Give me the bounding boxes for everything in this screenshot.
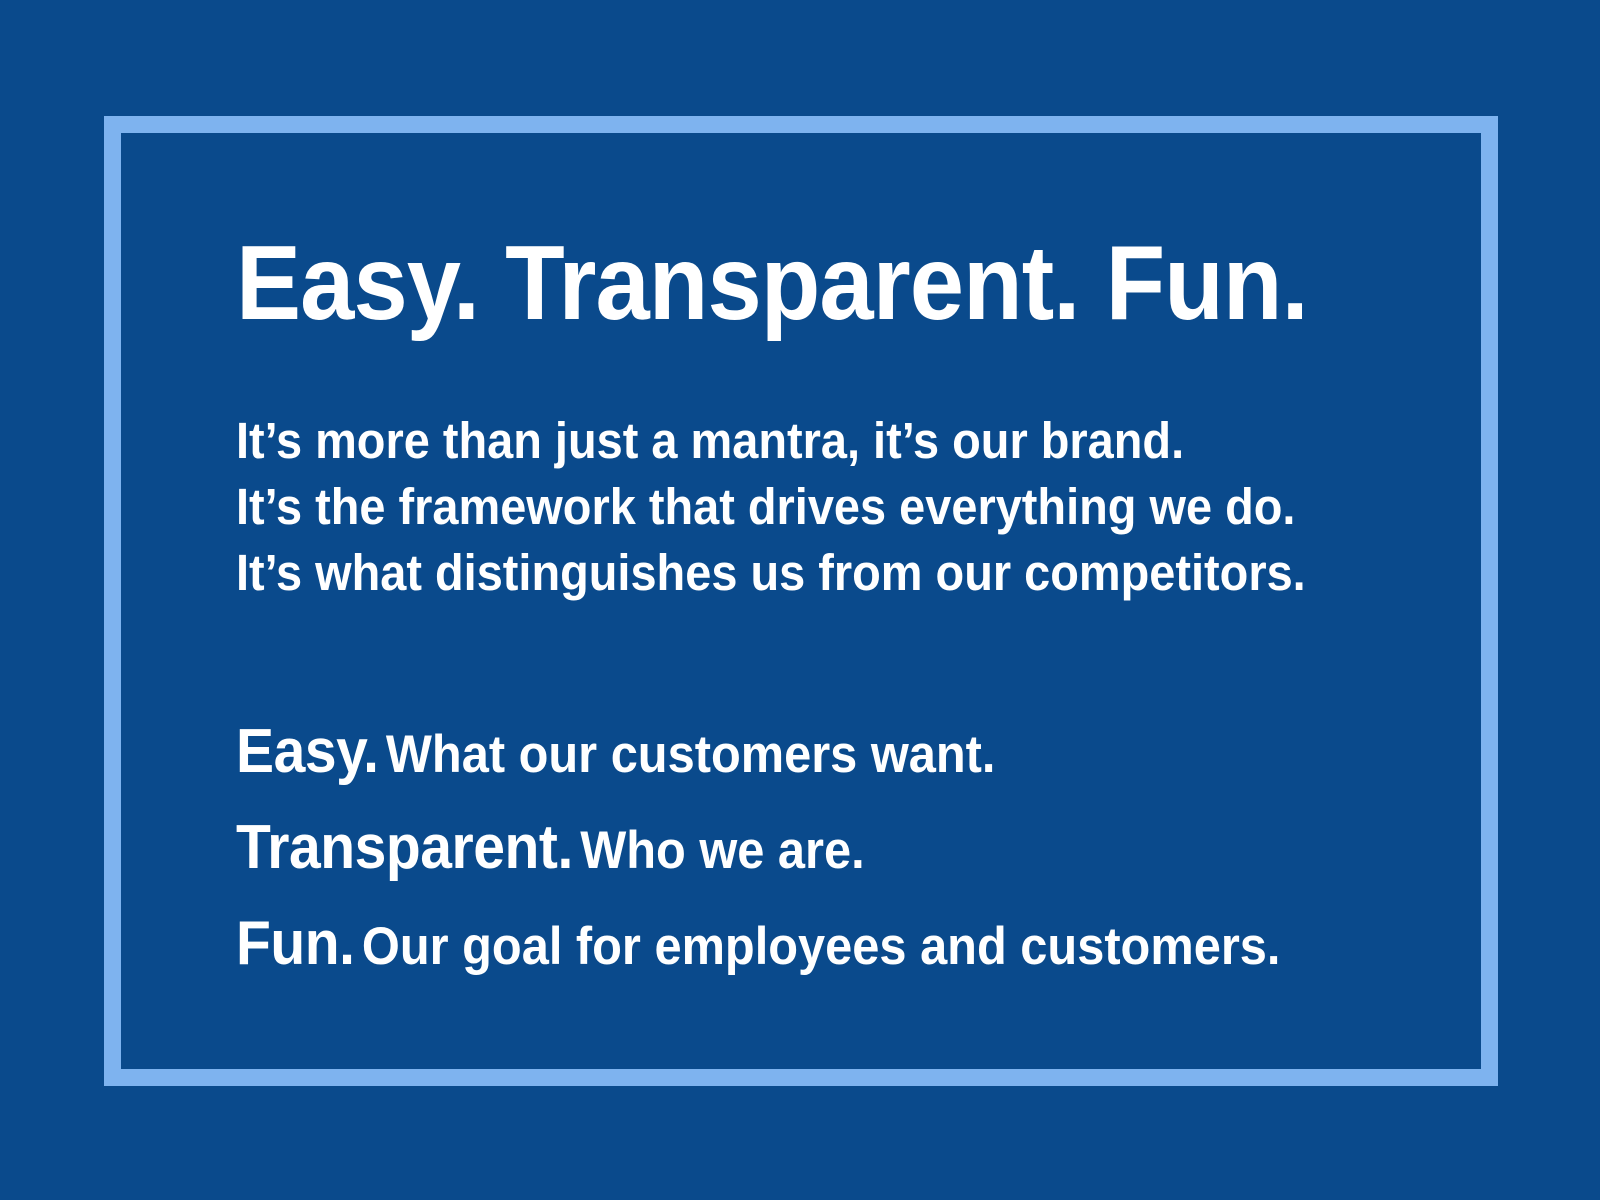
intro-line-3: It’s what distinguishes us from our comp…	[236, 540, 1303, 606]
pillar-item-transparent: Transparent.Who we are.	[236, 808, 1303, 904]
page-title: Easy. Transparent. Fun.	[236, 230, 1303, 336]
pillar-item-easy: Easy.What our customers want.	[236, 712, 1303, 808]
pillar-item-fun: Fun.Our goal for employees and customers…	[236, 904, 1303, 1000]
pillar-term-easy: Easy.	[236, 717, 379, 786]
slide-content: Easy. Transparent. Fun. It’s more than j…	[236, 230, 1396, 1000]
pillar-term-transparent: Transparent.	[236, 813, 573, 882]
pillar-description-transparent: Who we are.	[573, 821, 865, 880]
pillar-description-easy: What our customers want.	[379, 725, 996, 784]
slide-canvas: Easy. Transparent. Fun. It’s more than j…	[0, 0, 1600, 1200]
pillar-term-fun: Fun.	[236, 909, 355, 978]
intro-line-2: It’s the framework that drives everythin…	[236, 474, 1303, 540]
pillar-description-fun: Our goal for employees and customers.	[355, 917, 1281, 976]
pillars-list: Easy.What our customers want. Transparen…	[236, 712, 1396, 1000]
intro-paragraph: It’s more than just a mantra, it’s our b…	[236, 408, 1396, 606]
intro-line-1: It’s more than just a mantra, it’s our b…	[236, 408, 1303, 474]
